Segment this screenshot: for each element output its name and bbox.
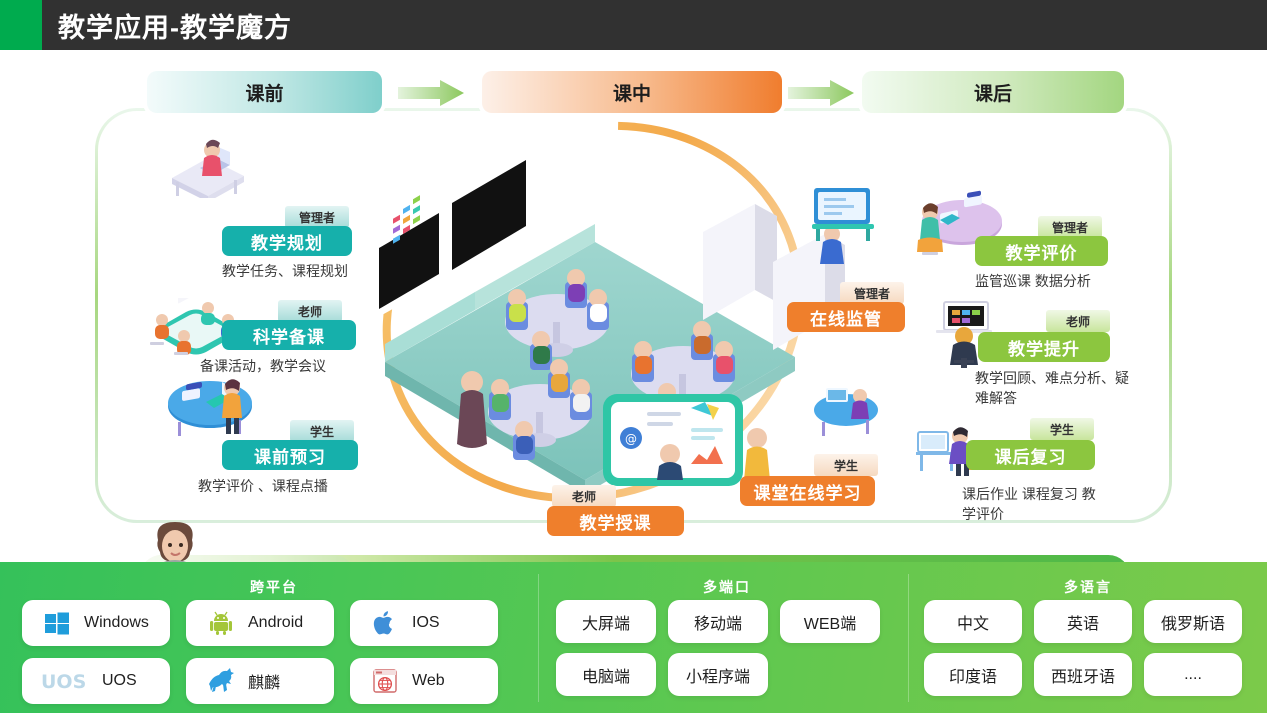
tab-before-class-label: 课前 <box>245 79 283 106</box>
role-chip-admin-3: 管理者 <box>1038 216 1102 238</box>
round-desk-study-icon <box>166 372 262 440</box>
apple-icon <box>368 606 402 640</box>
header-bar: 教学应用-教学魔方 <box>42 0 1267 50</box>
platform-card-ios[interactable]: IOS <box>350 600 498 646</box>
language-label-5: .... <box>1184 666 1202 684</box>
arrow-right-icon-2 <box>788 80 854 106</box>
pill-teaching-plan[interactable]: 教学规划 <box>222 226 352 256</box>
tab-before-class[interactable]: 课前 <box>147 71 382 113</box>
language-card-1[interactable]: 英语 <box>1034 600 1132 643</box>
terminal-card-3[interactable]: 电脑端 <box>556 653 656 696</box>
terminal-card-0[interactable]: 大屏端 <box>556 600 656 643</box>
tab-after-class[interactable]: 课后 <box>862 71 1124 113</box>
terminals-title: 多端口 <box>548 577 906 597</box>
desc-after-review: 课后作业 课程复习 教学评价 <box>962 484 1102 524</box>
role-chip-admin-1: 管理者 <box>285 206 349 228</box>
desc-teaching-plan: 教学任务、课程规划 <box>222 261 422 281</box>
pill-after-review[interactable]: 课后复习 <box>966 440 1095 470</box>
terminal-label-3: 电脑端 <box>582 663 630 687</box>
phase-tab-bar: 课前 课中 课后 <box>0 50 1267 110</box>
language-label-2: 俄罗斯语 <box>1161 610 1225 634</box>
arrow-right-icon-1 <box>398 80 464 106</box>
language-label-4: 西班牙语 <box>1051 663 1115 687</box>
tab-after-class-label: 课后 <box>974 79 1012 106</box>
platform-label-web: Web <box>412 672 445 690</box>
language-card-0[interactable]: 中文 <box>924 600 1022 643</box>
cross-platform-title: 跨平台 <box>14 577 534 597</box>
language-label-1: 英语 <box>1067 610 1099 634</box>
windows-icon <box>40 606 74 640</box>
page-header: 教学应用-教学魔方 <box>0 0 1267 50</box>
section-divider-2 <box>908 574 909 702</box>
language-card-4[interactable]: 西班牙语 <box>1034 653 1132 696</box>
svg-text:@: @ <box>625 432 637 446</box>
desc-teaching-evaluation: 监管巡课 数据分析 <box>975 271 1175 291</box>
main-stage: @ 课前 <box>0 50 1267 562</box>
role-chip-teacher-1: 老师 <box>278 300 342 322</box>
platform-card-kylin[interactable]: 麒麟 <box>186 658 334 704</box>
language-label-0: 中文 <box>957 610 989 634</box>
pill-scientific-prep[interactable]: 科学备课 <box>222 320 356 350</box>
smart-classroom-illustration: @ <box>325 112 865 512</box>
android-icon <box>204 606 238 640</box>
language-card-2[interactable]: 俄罗斯语 <box>1144 600 1242 643</box>
platform-label-android: Android <box>248 614 303 632</box>
role-chip-student-3: 学生 <box>1030 418 1094 440</box>
tab-in-class-label: 课中 <box>613 79 651 106</box>
terminal-card-2[interactable]: WEB端 <box>780 600 880 643</box>
desc-preview: 教学评价 、课程点播 <box>198 476 428 496</box>
platform-label-ios: IOS <box>412 614 440 632</box>
desc-teaching-improve: 教学回顾、难点分析、疑难解答 <box>975 368 1140 408</box>
role-chip-teacher-3: 老师 <box>1046 310 1110 332</box>
web-browser-icon <box>368 664 402 698</box>
platform-card-web[interactable]: Web <box>350 658 498 704</box>
terminal-card-1[interactable]: 移动端 <box>668 600 768 643</box>
uos-icon: UOS <box>40 664 92 698</box>
terminal-label-0: 大屏端 <box>582 610 630 634</box>
pill-preview[interactable]: 课前预习 <box>222 440 358 470</box>
monitor-admin-icon <box>808 180 880 270</box>
header-accent-block <box>0 0 42 50</box>
role-chip-student-2: 学生 <box>814 454 878 476</box>
pill-online-learning[interactable]: 课堂在线学习 <box>740 476 875 506</box>
tab-in-class[interactable]: 课中 <box>482 71 782 113</box>
page-root: 教学应用-教学魔方 <box>0 0 1267 713</box>
pill-teaching-improve[interactable]: 教学提升 <box>978 332 1110 362</box>
page-title: 教学应用-教学魔方 <box>58 6 292 45</box>
platform-label-windows: Windows <box>84 614 149 632</box>
terminal-label-4: 小程序端 <box>686 663 750 687</box>
platform-label-uos: UOS <box>102 672 137 690</box>
role-chip-student-1: 学生 <box>290 420 354 442</box>
svg-text:UOS: UOS <box>41 671 86 692</box>
platform-label-kylin: 麒麟 <box>248 669 280 693</box>
bottom-support-section: 跨平台 Windows <box>0 562 1267 713</box>
platform-card-windows[interactable]: Windows <box>22 600 170 646</box>
kylin-icon <box>204 664 238 698</box>
language-label-3: 印度语 <box>949 663 997 687</box>
language-card-3[interactable]: 印度语 <box>924 653 1022 696</box>
platform-card-android[interactable]: Android <box>186 600 334 646</box>
languages-title: 多语言 <box>918 577 1258 597</box>
terminal-label-1: 移动端 <box>694 610 742 634</box>
role-chip-admin-2: 管理者 <box>840 282 904 304</box>
section-divider-1 <box>538 574 539 702</box>
terminal-label-2: WEB端 <box>804 610 856 634</box>
language-card-5[interactable]: .... <box>1144 653 1242 696</box>
languages-column: 多语言 中文 英语 俄罗斯语 印度语 西班牙语 .... <box>918 562 1258 713</box>
platform-card-uos[interactable]: UOS UOS <box>22 658 170 704</box>
student-online-icon <box>812 370 882 446</box>
pill-online-supervision[interactable]: 在线监管 <box>787 302 905 332</box>
cross-platform-column: 跨平台 Windows <box>14 562 534 713</box>
terminals-column: 多端口 大屏端 移动端 WEB端 电脑端 小程序端 <box>548 562 906 713</box>
role-chip-teacher-2: 老师 <box>552 485 616 507</box>
terminal-card-4[interactable]: 小程序端 <box>668 653 768 696</box>
desk-laptop-icon <box>168 138 248 198</box>
pill-teaching-evaluation[interactable]: 教学评价 <box>975 236 1108 266</box>
pill-teaching-lecture[interactable]: 教学授课 <box>547 506 684 536</box>
